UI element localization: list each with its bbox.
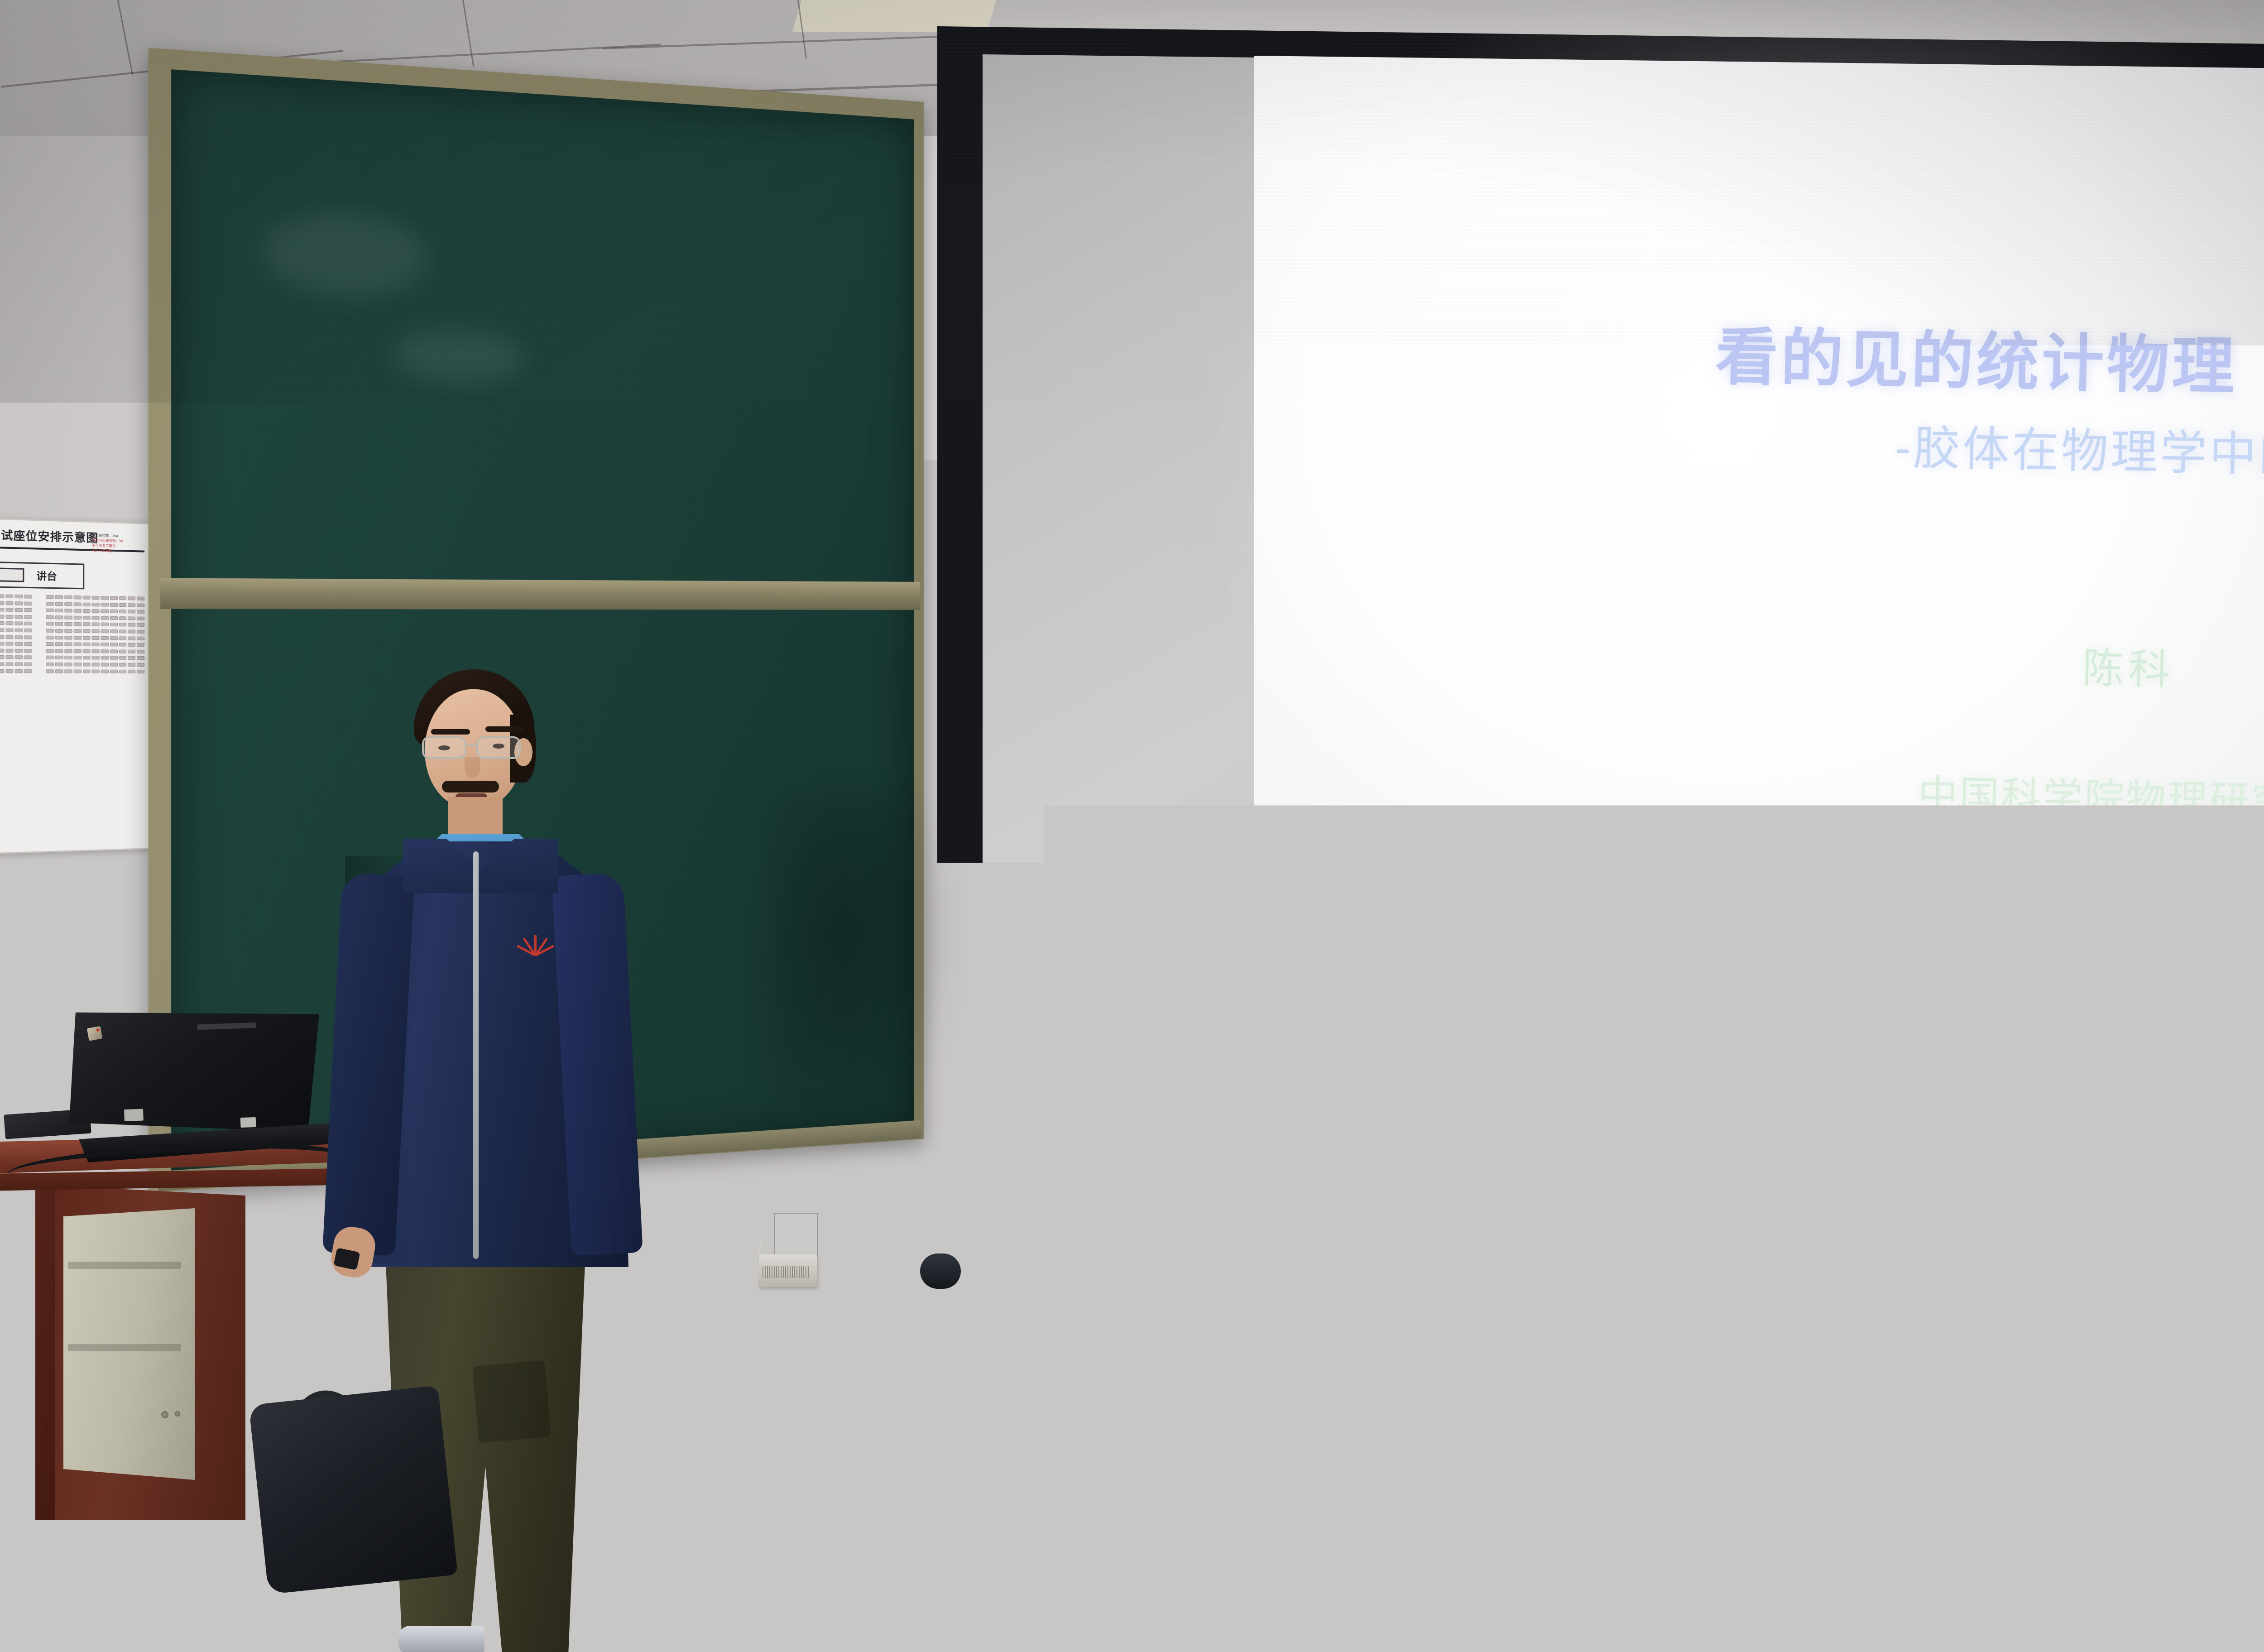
junction-vents — [763, 1266, 810, 1278]
seat-cell — [83, 636, 91, 639]
seat-cell — [110, 656, 118, 660]
seat-cell — [15, 595, 23, 599]
slide-title: 看的见的统计物理 — [1715, 306, 2238, 406]
seat-cell — [83, 656, 91, 659]
seat-cell — [64, 629, 72, 633]
chalk-smudge — [262, 209, 428, 299]
podium-label: 讲台 — [36, 568, 57, 583]
seat-aisle — [34, 615, 44, 619]
seat-cell — [137, 603, 144, 607]
seat-cell — [46, 669, 54, 673]
seat-cell — [15, 649, 23, 653]
seat-cell — [5, 628, 14, 632]
seat-cell — [83, 643, 91, 646]
seat-cell — [128, 603, 136, 607]
seat-cell — [55, 669, 63, 673]
seat-cell — [55, 663, 63, 666]
seat-cell — [83, 629, 91, 633]
seat-cell — [101, 603, 109, 606]
seat-cell — [101, 610, 109, 613]
ceiling-tile-edge — [462, 0, 474, 67]
seat-row — [0, 615, 144, 620]
seat-row — [0, 655, 144, 660]
seat-cell — [24, 663, 32, 666]
seat-aisle — [34, 608, 44, 612]
seat-cell — [24, 595, 32, 598]
jacket-logo-icon — [521, 935, 552, 963]
seat-cell — [128, 643, 136, 647]
seat-cell — [5, 621, 14, 625]
seat-aisle — [34, 622, 44, 625]
seat-cell — [83, 595, 91, 599]
seat-cell — [5, 663, 14, 666]
seat-cell — [110, 616, 118, 620]
seat-aisle — [34, 601, 44, 605]
seat-cell — [92, 636, 100, 639]
seat-cell — [119, 636, 127, 640]
seat-cell — [15, 608, 23, 612]
seat-cell — [119, 643, 127, 647]
seat-row — [0, 648, 144, 653]
seat-cell — [110, 649, 118, 653]
thinkpad-logo-icon — [87, 1026, 102, 1041]
seat-cell — [64, 595, 72, 599]
podium-icon — [0, 567, 24, 582]
seat-cell — [0, 615, 4, 618]
seat-cell — [83, 623, 91, 626]
seat-aisle — [34, 642, 44, 646]
seat-row — [0, 669, 144, 673]
seat-cell — [137, 669, 144, 673]
seat-cell — [64, 663, 72, 666]
seat-cell — [92, 649, 100, 653]
laptop-sticker — [124, 1109, 144, 1121]
seat-cell — [64, 622, 72, 626]
seat-cell — [101, 596, 109, 600]
seat-cell — [128, 649, 136, 653]
seat-cell — [128, 623, 136, 627]
seat-cell — [101, 616, 109, 619]
seat-cell — [55, 642, 63, 646]
seat-cell — [5, 615, 14, 618]
seat-cell — [137, 650, 144, 653]
seat-cell — [15, 656, 23, 659]
lecture-hall-photo: 考试座位安排示意图 教室座位数：264 考试可用座位数：90 不可用考生座位 可… — [0, 0, 2264, 1652]
seat-row — [0, 594, 144, 600]
junction-backplate — [774, 1213, 818, 1257]
seat-cell — [92, 623, 100, 626]
audience-hair — [0, 1182, 217, 1463]
seat-cell — [24, 615, 32, 619]
seat-cell — [137, 630, 144, 634]
seat-cell — [5, 594, 14, 598]
seat-aisle — [34, 629, 44, 632]
seat-cell — [101, 656, 109, 660]
seat-cell — [46, 615, 54, 619]
laptop-lid — [65, 1004, 323, 1140]
seat-cell — [101, 636, 109, 640]
seat-cell — [74, 616, 82, 619]
seat-cell — [101, 643, 109, 646]
presenter-eyebrow — [431, 729, 470, 735]
seat-cell — [15, 615, 23, 619]
audience-member — [0, 1182, 290, 1652]
seat-cell — [64, 656, 72, 659]
seat-cell — [119, 649, 127, 653]
seat-cell — [92, 656, 100, 660]
seat-cell — [64, 602, 72, 606]
seat-cell — [92, 609, 100, 613]
seat-row — [0, 601, 144, 607]
seat-cell — [137, 663, 144, 667]
seat-cell — [92, 643, 100, 646]
seat-cell — [92, 669, 100, 673]
seat-cell — [137, 656, 144, 660]
seat-cell — [92, 596, 100, 600]
seat-cell — [137, 610, 144, 614]
seat-cell — [24, 642, 32, 646]
seat-cell — [119, 623, 127, 627]
poster-legend: 教室座位数：264 考试可用座位数：90 不可用考生座位 可用考生座位 — [92, 533, 146, 554]
slide-author: 陈科 — [1596, 625, 2264, 706]
poster-podium-marker: 讲台 — [0, 562, 84, 590]
seat-cell — [128, 669, 136, 673]
seat-cell — [64, 636, 72, 639]
seat-cell — [24, 608, 32, 612]
seat-cell — [119, 616, 127, 620]
seat-cell — [74, 595, 82, 599]
seat-cell — [128, 663, 136, 667]
presenter-nose — [465, 757, 480, 778]
seat-cell — [128, 636, 136, 640]
seat-cell — [24, 635, 32, 639]
seat-row — [0, 642, 144, 647]
seat-cell — [55, 649, 63, 653]
legend-item: 可用考生座位 — [92, 548, 146, 554]
seat-cell — [137, 616, 144, 620]
seat-cell — [119, 656, 127, 660]
seat-row — [0, 635, 144, 640]
seat-cell — [15, 622, 23, 625]
seat-cell — [119, 663, 127, 667]
seat-cell — [55, 656, 63, 659]
seat-cell — [46, 635, 54, 639]
seat-cell — [128, 596, 136, 600]
seat-cell — [5, 608, 14, 611]
seat-cell — [0, 655, 4, 659]
seat-cell — [83, 616, 91, 619]
seat-cell — [24, 649, 32, 653]
seat-aisle — [34, 663, 44, 666]
seat-cell — [15, 601, 23, 605]
seat-cell — [55, 602, 63, 605]
seat-cell — [0, 669, 4, 672]
seat-cell — [0, 594, 4, 598]
seat-cell — [119, 603, 127, 606]
seat-cell — [110, 636, 118, 640]
seat-cell — [55, 622, 63, 626]
seat-cell — [92, 616, 100, 619]
seat-cell — [101, 649, 109, 653]
exam-seating-chart-poster: 考试座位安排示意图 教室座位数：264 考试可用座位数：90 不可用考生座位 可… — [0, 518, 150, 854]
seat-cell — [64, 609, 72, 612]
seat-cell — [24, 656, 32, 659]
seat-cell — [5, 642, 14, 645]
seat-cell — [55, 595, 63, 599]
seat-cell — [0, 608, 4, 611]
seat-cell — [119, 629, 127, 633]
chalkboard-divider — [160, 578, 920, 610]
seat-cell — [5, 669, 14, 673]
glasses-lens — [422, 736, 466, 759]
seat-cell — [128, 616, 136, 620]
seat-cell — [74, 663, 82, 666]
seat-cell — [83, 609, 91, 613]
seat-cell — [64, 649, 72, 653]
seat-cell — [5, 601, 14, 605]
seat-cell — [137, 636, 144, 640]
seat-cell — [46, 609, 54, 612]
seat-cell — [0, 601, 4, 605]
seat-cell — [92, 663, 100, 666]
seat-cell — [101, 629, 109, 633]
seat-cell — [110, 663, 118, 667]
seat-cell — [64, 615, 72, 619]
seat-cell — [24, 629, 32, 632]
seat-cell — [92, 629, 100, 633]
seat-cell — [110, 596, 118, 600]
slide-subtitle: -胶体在物理学中的应用 — [1895, 409, 2264, 487]
seat-cell — [55, 609, 63, 612]
seat-row — [0, 608, 144, 614]
seat-cell — [46, 663, 54, 666]
presenter-eyebrow — [485, 726, 523, 732]
seat-cell — [83, 663, 91, 666]
seat-cell — [15, 635, 23, 639]
seat-cell — [110, 610, 118, 613]
seat-cell — [46, 649, 54, 653]
seat-cell — [0, 621, 4, 625]
seat-cell — [55, 629, 63, 633]
seat-cell — [74, 609, 82, 613]
slide-content: 看的见的统计物理 -胶体在物理学中的应用 陈科 中国科学院物理研究所 软物质实验… — [1590, 114, 2264, 1022]
seat-cell — [110, 669, 118, 673]
seat-cell — [128, 656, 136, 660]
glasses-bridge — [466, 744, 477, 746]
chalk-smudge — [393, 327, 524, 384]
seat-cell — [55, 636, 63, 639]
seat-cell — [24, 669, 32, 673]
seat-cell — [74, 636, 82, 639]
seat-cell — [46, 595, 54, 599]
seat-cell — [46, 622, 54, 626]
seat-cell — [0, 642, 4, 645]
seat-cell — [64, 669, 72, 673]
seat-cell — [110, 623, 118, 626]
audience-sweater — [0, 1518, 308, 1652]
seat-cell — [83, 649, 91, 653]
seat-cell — [15, 663, 23, 666]
seat-cell — [5, 635, 14, 639]
seat-cell — [83, 602, 91, 606]
seat-cell — [0, 628, 4, 632]
seat-cell — [74, 669, 82, 673]
seat-cell — [119, 669, 127, 673]
seat-cell — [46, 602, 54, 605]
seat-cell — [74, 656, 82, 659]
laptop-brand-text — [197, 1023, 256, 1030]
seat-cell — [137, 643, 144, 647]
seat-cell — [110, 603, 118, 606]
seat-cell — [74, 622, 82, 626]
seat-aisle — [34, 649, 44, 653]
seat-row — [0, 621, 144, 627]
trouser-cargo-pocket — [472, 1360, 551, 1443]
projection-screen-assembly: 看的见的统计物理 -胶体在物理学中的应用 陈科 中国科学院物理研究所 软物质实验… — [937, 4, 2264, 1344]
seat-cell — [0, 635, 4, 639]
seat-cell — [83, 669, 91, 673]
seat-cell — [92, 603, 100, 606]
seat-cell — [0, 648, 4, 652]
seat-cell — [74, 649, 82, 653]
laptop-sticker — [240, 1117, 256, 1128]
seat-cell — [110, 643, 118, 646]
jacket-zipper — [473, 851, 479, 1259]
seat-cell — [46, 629, 54, 632]
seat-cell — [46, 642, 54, 646]
wall-junction-box — [759, 1254, 817, 1287]
slide-affiliation-lab: 软物质实验室 — [1592, 820, 2264, 898]
seat-cell — [101, 663, 109, 666]
seat-cell — [74, 643, 82, 646]
presenter-mustache — [442, 781, 499, 792]
seat-cell — [119, 610, 127, 613]
seat-aisle — [34, 656, 44, 659]
seat-grid — [0, 594, 144, 673]
seat-cell — [128, 629, 136, 633]
ceiling-tile-edge — [117, 0, 133, 76]
seat-cell — [15, 669, 23, 673]
seat-cell — [101, 669, 109, 673]
glasses-lens — [476, 736, 521, 759]
seat-cell — [15, 629, 23, 632]
presenter-shadow-on-board — [765, 789, 956, 1154]
seat-cell — [64, 643, 72, 646]
seat-aisle — [34, 635, 44, 639]
seat-cell — [24, 601, 32, 605]
seat-cell — [5, 656, 14, 659]
seat-cell — [55, 615, 63, 619]
seat-cell — [110, 629, 118, 633]
seat-cell — [74, 629, 82, 633]
seat-cell — [24, 622, 32, 625]
seat-aisle — [34, 595, 44, 599]
seat-cell — [119, 596, 127, 600]
seat-row — [0, 628, 144, 634]
seat-cell — [128, 610, 136, 613]
seat-cell — [101, 623, 109, 626]
seat-cell — [0, 662, 4, 666]
seat-row — [0, 662, 144, 667]
seat-cell — [15, 642, 23, 646]
seat-cell — [46, 656, 54, 659]
seat-cell — [74, 602, 82, 606]
seat-cell — [5, 648, 14, 652]
presenter-shoe — [398, 1626, 484, 1652]
screen-roller-end-cap — [920, 1253, 961, 1289]
seat-cell — [137, 596, 144, 600]
ceiling-seam — [602, 34, 992, 49]
projected-slide: 看的见的统计物理 -胶体在物理学中的应用 陈科 中国科学院物理研究所 软物质实验… — [1254, 56, 2264, 984]
seat-aisle — [34, 669, 44, 673]
seat-cell — [137, 623, 144, 627]
